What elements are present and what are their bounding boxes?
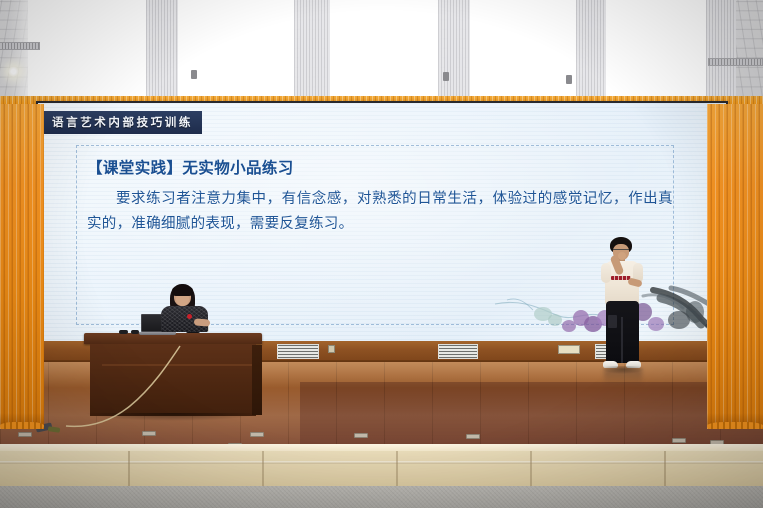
acoustic-panel [706, 0, 736, 110]
desk-remote[interactable] [119, 330, 128, 334]
student-raised-hand [618, 252, 626, 260]
ceiling-downlight [8, 66, 19, 77]
curtain-fabric-left [0, 104, 44, 429]
instructor-arm [194, 318, 211, 326]
curtain-hem-left [0, 422, 44, 429]
stage-front-molding [0, 461, 763, 464]
floor-carpet [0, 486, 763, 508]
student-floor-reflection [604, 369, 642, 385]
slide-paragraph: 要求练习者注意力集中，有信念感，对熟悉的日常生活，体验过的感觉记忆，作出真实的，… [87, 187, 673, 237]
wall-air-vent [438, 344, 478, 359]
floor-socket-plate [672, 438, 686, 443]
stage-curtain-right [707, 104, 763, 429]
ceiling-speaker [191, 70, 197, 79]
stage-front-seam [530, 451, 532, 488]
curtain-fabric-right [707, 104, 763, 429]
floor-socket-plate [18, 432, 32, 437]
stage-front-seam [396, 451, 398, 488]
stage-front-seam [262, 451, 264, 488]
instructor-seated [152, 287, 216, 337]
curtain-hem-right [707, 422, 763, 429]
instructor-fringe [172, 285, 193, 296]
wall-outlet[interactable] [328, 345, 335, 353]
floor-socket-plate [250, 432, 264, 437]
ceiling-air-vent [708, 58, 763, 66]
ceiling-air-vent [0, 42, 40, 50]
wall-air-vent [277, 344, 319, 359]
student-pants-pocket [608, 315, 617, 328]
microphone-cable [60, 344, 210, 440]
student-leg-seam [621, 317, 623, 363]
slide-heading: 【课堂实践】无实物小品练习 [87, 156, 667, 178]
slide-banner-text: 语言艺术内部技巧训练 [52, 114, 193, 130]
student-presenter-standing [601, 237, 645, 385]
wall-control-panel[interactable] [558, 345, 580, 354]
stage-front-face [0, 451, 763, 488]
desk-remote[interactable] [131, 330, 139, 334]
instructor-badge [187, 314, 192, 319]
stage-curtain-left [0, 104, 44, 429]
desk-side-panel [252, 345, 262, 415]
floor-socket-plate [466, 434, 480, 439]
floor-color-cast [300, 382, 763, 448]
slide-title-banner: 语言艺术内部技巧训练 [43, 111, 202, 134]
stage-front-seam [664, 451, 666, 488]
lecture-hall-scene: 语言艺术内部技巧训练 【课堂实践】无实物小品练习 要求练习者注意力集中，有信念感… [0, 0, 763, 508]
stage-front-seam [128, 451, 130, 488]
ceiling-speaker [443, 72, 449, 81]
ceiling-speaker [566, 75, 572, 84]
student-sleeve-left [601, 263, 611, 283]
floor-socket-plate [354, 433, 368, 438]
